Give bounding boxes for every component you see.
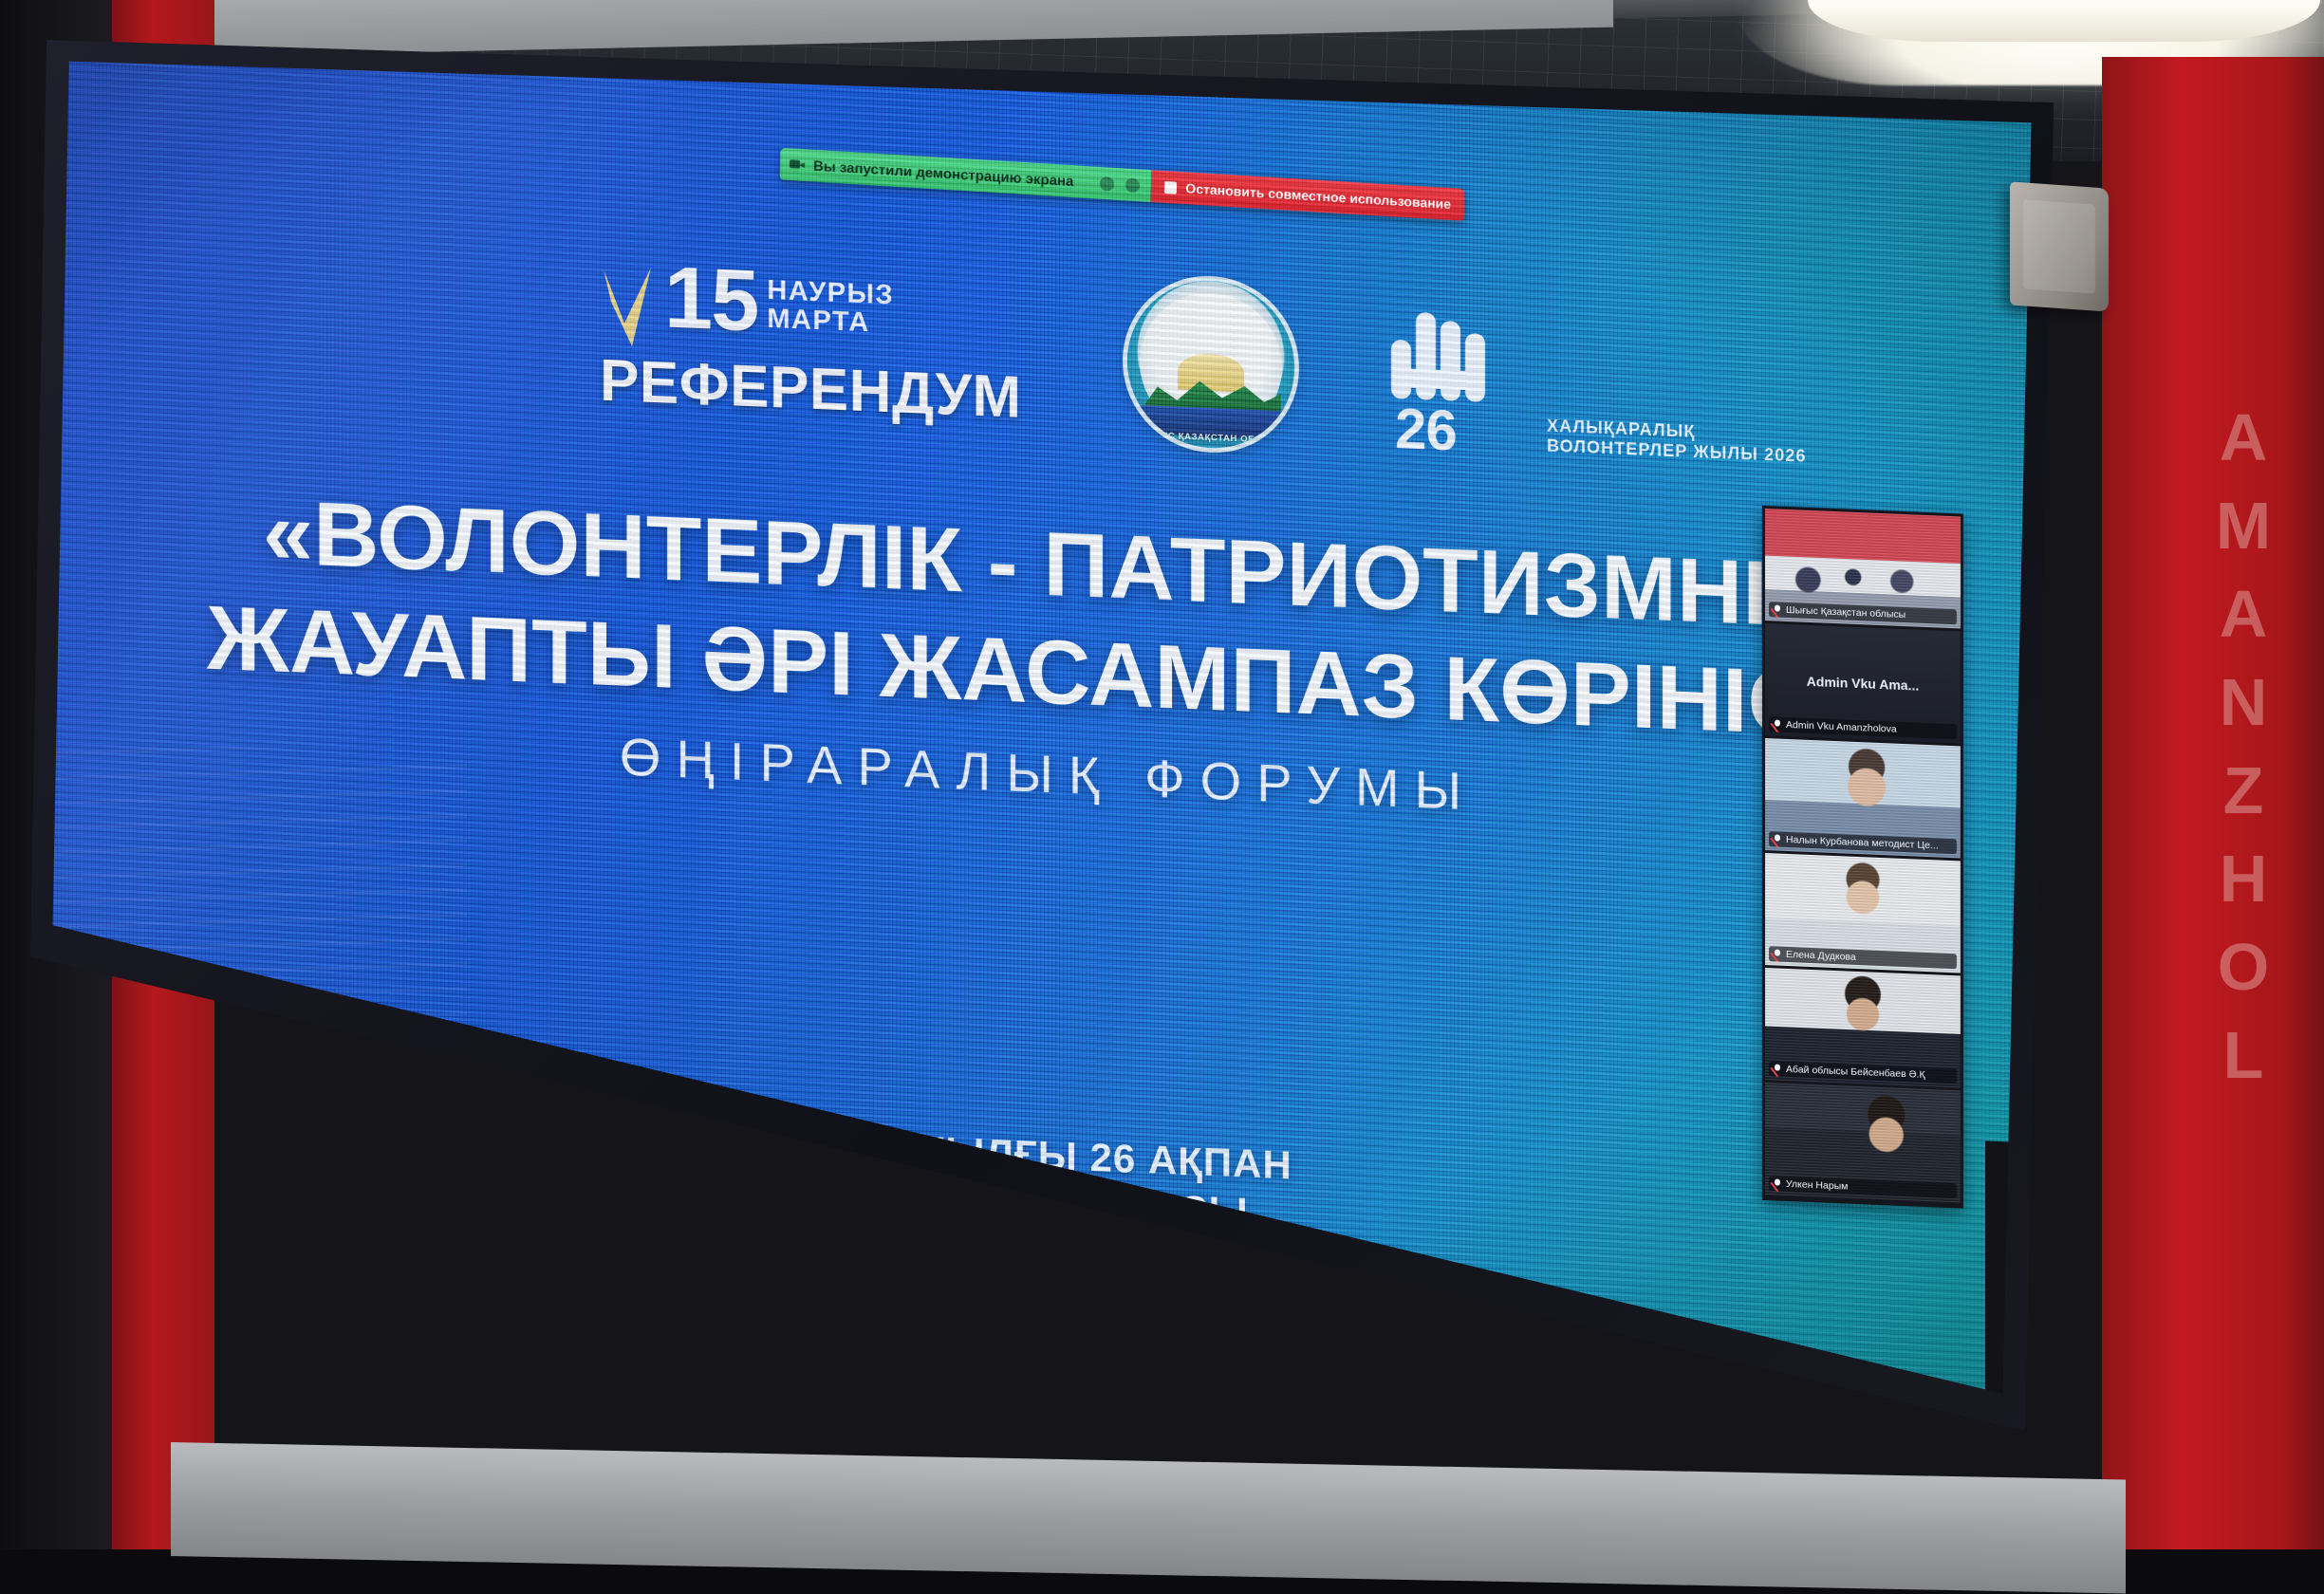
share-status-chip: Вы запустили демонстрацию экрана <box>780 148 1086 198</box>
pause-icon[interactable] <box>1125 177 1140 193</box>
presentation-slide: Вы запустили демонстрацию экрана Останов… <box>30 17 2066 1445</box>
participant-name: Шығыс Қазақстан облысы <box>1786 604 1906 621</box>
participant-tile[interactable]: Шығыс Қазақстан облысы <box>1765 509 1961 628</box>
volunteer-year-lockup: 26 ХАЛЫҚАРАЛЫҚ ВОЛОНТЕРЛЕР ЖЫЛЫ 2026 <box>1387 298 1833 477</box>
referendum-day: 15 <box>664 260 757 339</box>
participant-name: Елена Дудкова <box>1786 949 1856 963</box>
wall-sign-letter: H <box>2220 849 2270 909</box>
ceiling-light-fixture <box>1808 0 2320 42</box>
slide-logo-row: 15 НАУРЫЗ МАРТА РЕФЕРЕНДУМ <box>600 245 1843 514</box>
participant-tile[interactable]: Улкен Нарым <box>1765 1083 1961 1202</box>
wall-sign-letter: N <box>2220 673 2270 732</box>
referendum-month: НАУРЫЗ МАРТА <box>767 277 894 339</box>
wall-sign-letter: O <box>2218 937 2271 997</box>
share-controls[interactable] <box>1085 166 1152 202</box>
slide-footer-date: 2026 ЖЫЛҒЫ 26 АҚПАН <box>30 1089 2066 1221</box>
zoom-participant-filmstrip[interactable]: Шығыс Қазақстан облысы Admin Vku Ama... … <box>1762 506 1963 1209</box>
mic-muted-icon <box>1774 1178 1782 1189</box>
mic-muted-icon <box>1774 834 1782 844</box>
region-emblem-icon: ШЫҒЫС ҚАЗАҚСТАН ОБЛЫСЫ <box>1127 277 1294 451</box>
share-status-label: Вы запустили демонстрацию экрана <box>813 158 1074 190</box>
wall-sign-letter: L <box>2223 1026 2266 1085</box>
referendum-lockup: 15 НАУРЫЗ МАРТА РЕФЕРЕНДУМ <box>600 258 1022 432</box>
participant-name: Admin Vku Amanzholova <box>1786 719 1897 735</box>
stop-sharing-button[interactable]: Остановить совместное использование <box>1151 170 1464 221</box>
wall-sign-letter: A <box>2220 408 2270 468</box>
wall-sign-letter: M <box>2216 496 2273 556</box>
zoom-share-notification-bar[interactable]: Вы запустили демонстрацию экрана Останов… <box>780 148 1465 221</box>
slide-title-block: «ВОЛОНТЕРЛІК - ПАТРИОТИЗМНІҢ ЖАУАПТЫ ӘРІ… <box>30 477 2066 846</box>
screen-display-area: Вы запустили демонстрацию экрана Останов… <box>30 17 2066 1445</box>
participant-tile[interactable]: Admin Vku Ama... Admin Vku Amanzholova <box>1765 623 1961 743</box>
wall-sign-vertical: A M A N Z H O L <box>2173 408 2315 1085</box>
participant-tile[interactable]: Елена Дудкова <box>1765 853 1961 973</box>
referendum-month-ru: МАРТА <box>767 305 894 338</box>
zoom-camera-icon <box>790 158 805 172</box>
led-video-wall: Вы запустили демонстрацию экрана Останов… <box>30 17 2066 1445</box>
volunteer-caption: ХАЛЫҚАРАЛЫҚ ВОЛОНТЕРЛЕР ЖЫЛЫ 2026 <box>1547 417 1807 468</box>
wall-speaker-icon <box>2010 181 2109 311</box>
participant-initials-label: Admin Vku Ama... <box>1807 674 1920 694</box>
stop-sharing-label: Остановить совместное использование <box>1185 180 1451 212</box>
mic-muted-icon <box>1774 719 1782 730</box>
mic-muted-icon <box>1774 604 1782 615</box>
volunteer-year: 26 <box>1395 400 1457 460</box>
participant-tile[interactable]: Абай облысы Бейсенбаев Ә.Қ <box>1765 968 1961 1087</box>
mic-mute-icon[interactable] <box>1100 176 1114 191</box>
wall-panel-bottom <box>171 1442 2126 1594</box>
participant-name: Улкен Нарым <box>1786 1178 1848 1193</box>
wall-sign-letter: A <box>2220 584 2270 644</box>
wall-sign-letter: Z <box>2223 761 2266 821</box>
stop-square-icon <box>1164 180 1177 194</box>
checkmark-icon <box>600 264 655 347</box>
participant-tile[interactable]: Налын Курбанова методист Це... <box>1765 738 1961 858</box>
conference-room-scene: A M A N Z H O L Вы запустили демонстраци… <box>0 0 2324 1549</box>
mic-muted-icon <box>1774 949 1782 959</box>
mic-muted-icon <box>1774 1064 1782 1074</box>
